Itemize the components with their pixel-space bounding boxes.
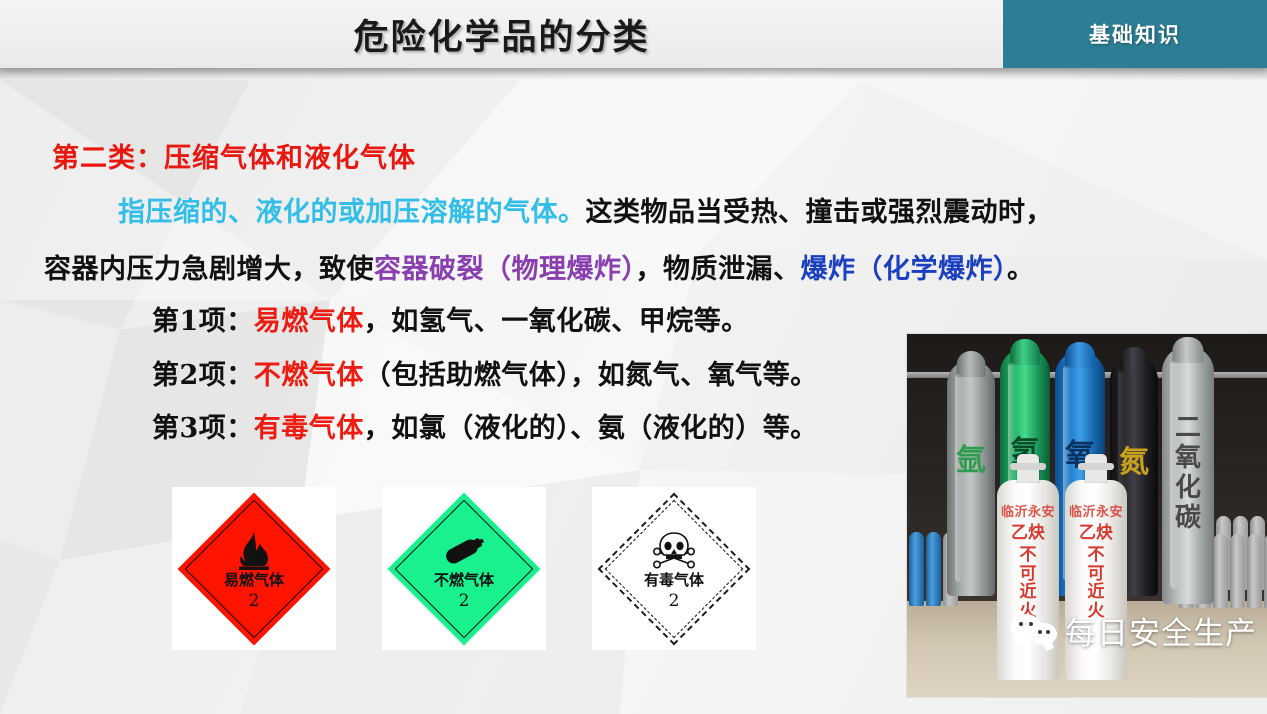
list-item: 第3项：有毒气体，如氯（液化的）、氨（液化的）等。 [152,406,818,445]
intro-line2-part1: 容器内压力急剧增大，致使 [44,254,374,285]
item-2-keyword: 不燃气体 [254,360,364,391]
acetylene-gas-name: 乙炔 [1011,524,1045,543]
acetylene-gas-name: 乙炔 [1079,524,1113,543]
item-3-rest: ，如氯（液化的）、氨（液化的）等。 [364,413,818,444]
section-badge: 基础知识 [1003,0,1267,68]
gas-cylinder-photo: 氩 氢 氧 氮 二氧化碳 临沂永安 乙炔 不 [907,334,1267,697]
slide-header: 危险化学品的分类 基础知识 [0,0,1267,68]
cylinder-label-carbon-dioxide: 二氧化碳 [1162,414,1214,534]
item-2-rest: （包括助燃气体），如氮气、氧气等。 [364,360,818,391]
intro-definition-text: 指压缩的、液化的或加压溶解的气体。 [118,197,586,228]
wechat-icon [1011,612,1057,650]
acetylene-brand: 临沂永安 [1069,506,1123,520]
chemical-explosion-text: 爆炸（化学爆炸） [801,254,1008,285]
item-3-prefix: 第3项： [152,413,254,444]
acetylene-brand: 临沂永安 [1001,506,1055,520]
cylinder-carbon-dioxide: 二氧化碳 [1162,346,1214,604]
physical-explosion-text: 容器破裂（物理爆炸） [374,254,636,285]
item-3-keyword: 有毒气体 [254,413,364,444]
item-1-keyword: 易燃气体 [254,306,364,337]
cylinder-argon: 氩 [947,360,995,596]
header-shadow [0,68,1267,80]
item-1-rest: ，如氢气、一氧化碳、甲烷等。 [364,306,749,337]
intro-paragraph-line-1: 指压缩的、液化的或加压溶解的气体。这类物品当受热、撞击或强烈震动时， [118,190,1053,229]
intro-line2-part3: 。 [1007,254,1035,285]
intro-paragraph-line-2: 容器内压力急剧增大，致使容器破裂（物理爆炸），物质泄漏、爆炸（化学爆炸）。 [44,247,1035,286]
slide-canvas: 危险化学品的分类 基础知识 第二类：压缩气体和液化气体 指压缩的、液化的或加压溶… [0,0,1267,714]
cylinder-label-argon: 氩 [947,446,995,476]
section-heading: 第二类：压缩气体和液化气体 [52,136,416,175]
item-1-prefix: 第1项： [152,306,254,337]
intro-line2-part2: ，物质泄漏、 [636,254,801,285]
list-item: 第2项：不燃气体（包括助燃气体），如氮气、氧气等。 [152,353,818,392]
watermark-text: 每日安全生产 [1065,608,1257,653]
page-title: 危险化学品的分类 [0,0,1003,68]
item-2-prefix: 第2项： [152,360,254,391]
intro-continuation-text: 这类物品当受热、撞击或强烈震动时， [586,197,1054,228]
watermark: 每日安全生产 [1011,608,1257,653]
list-item: 第1项：易燃气体，如氢气、一氧化碳、甲烷等。 [152,299,749,338]
cylinder-label-nitrogen: 氮 [1110,448,1158,478]
